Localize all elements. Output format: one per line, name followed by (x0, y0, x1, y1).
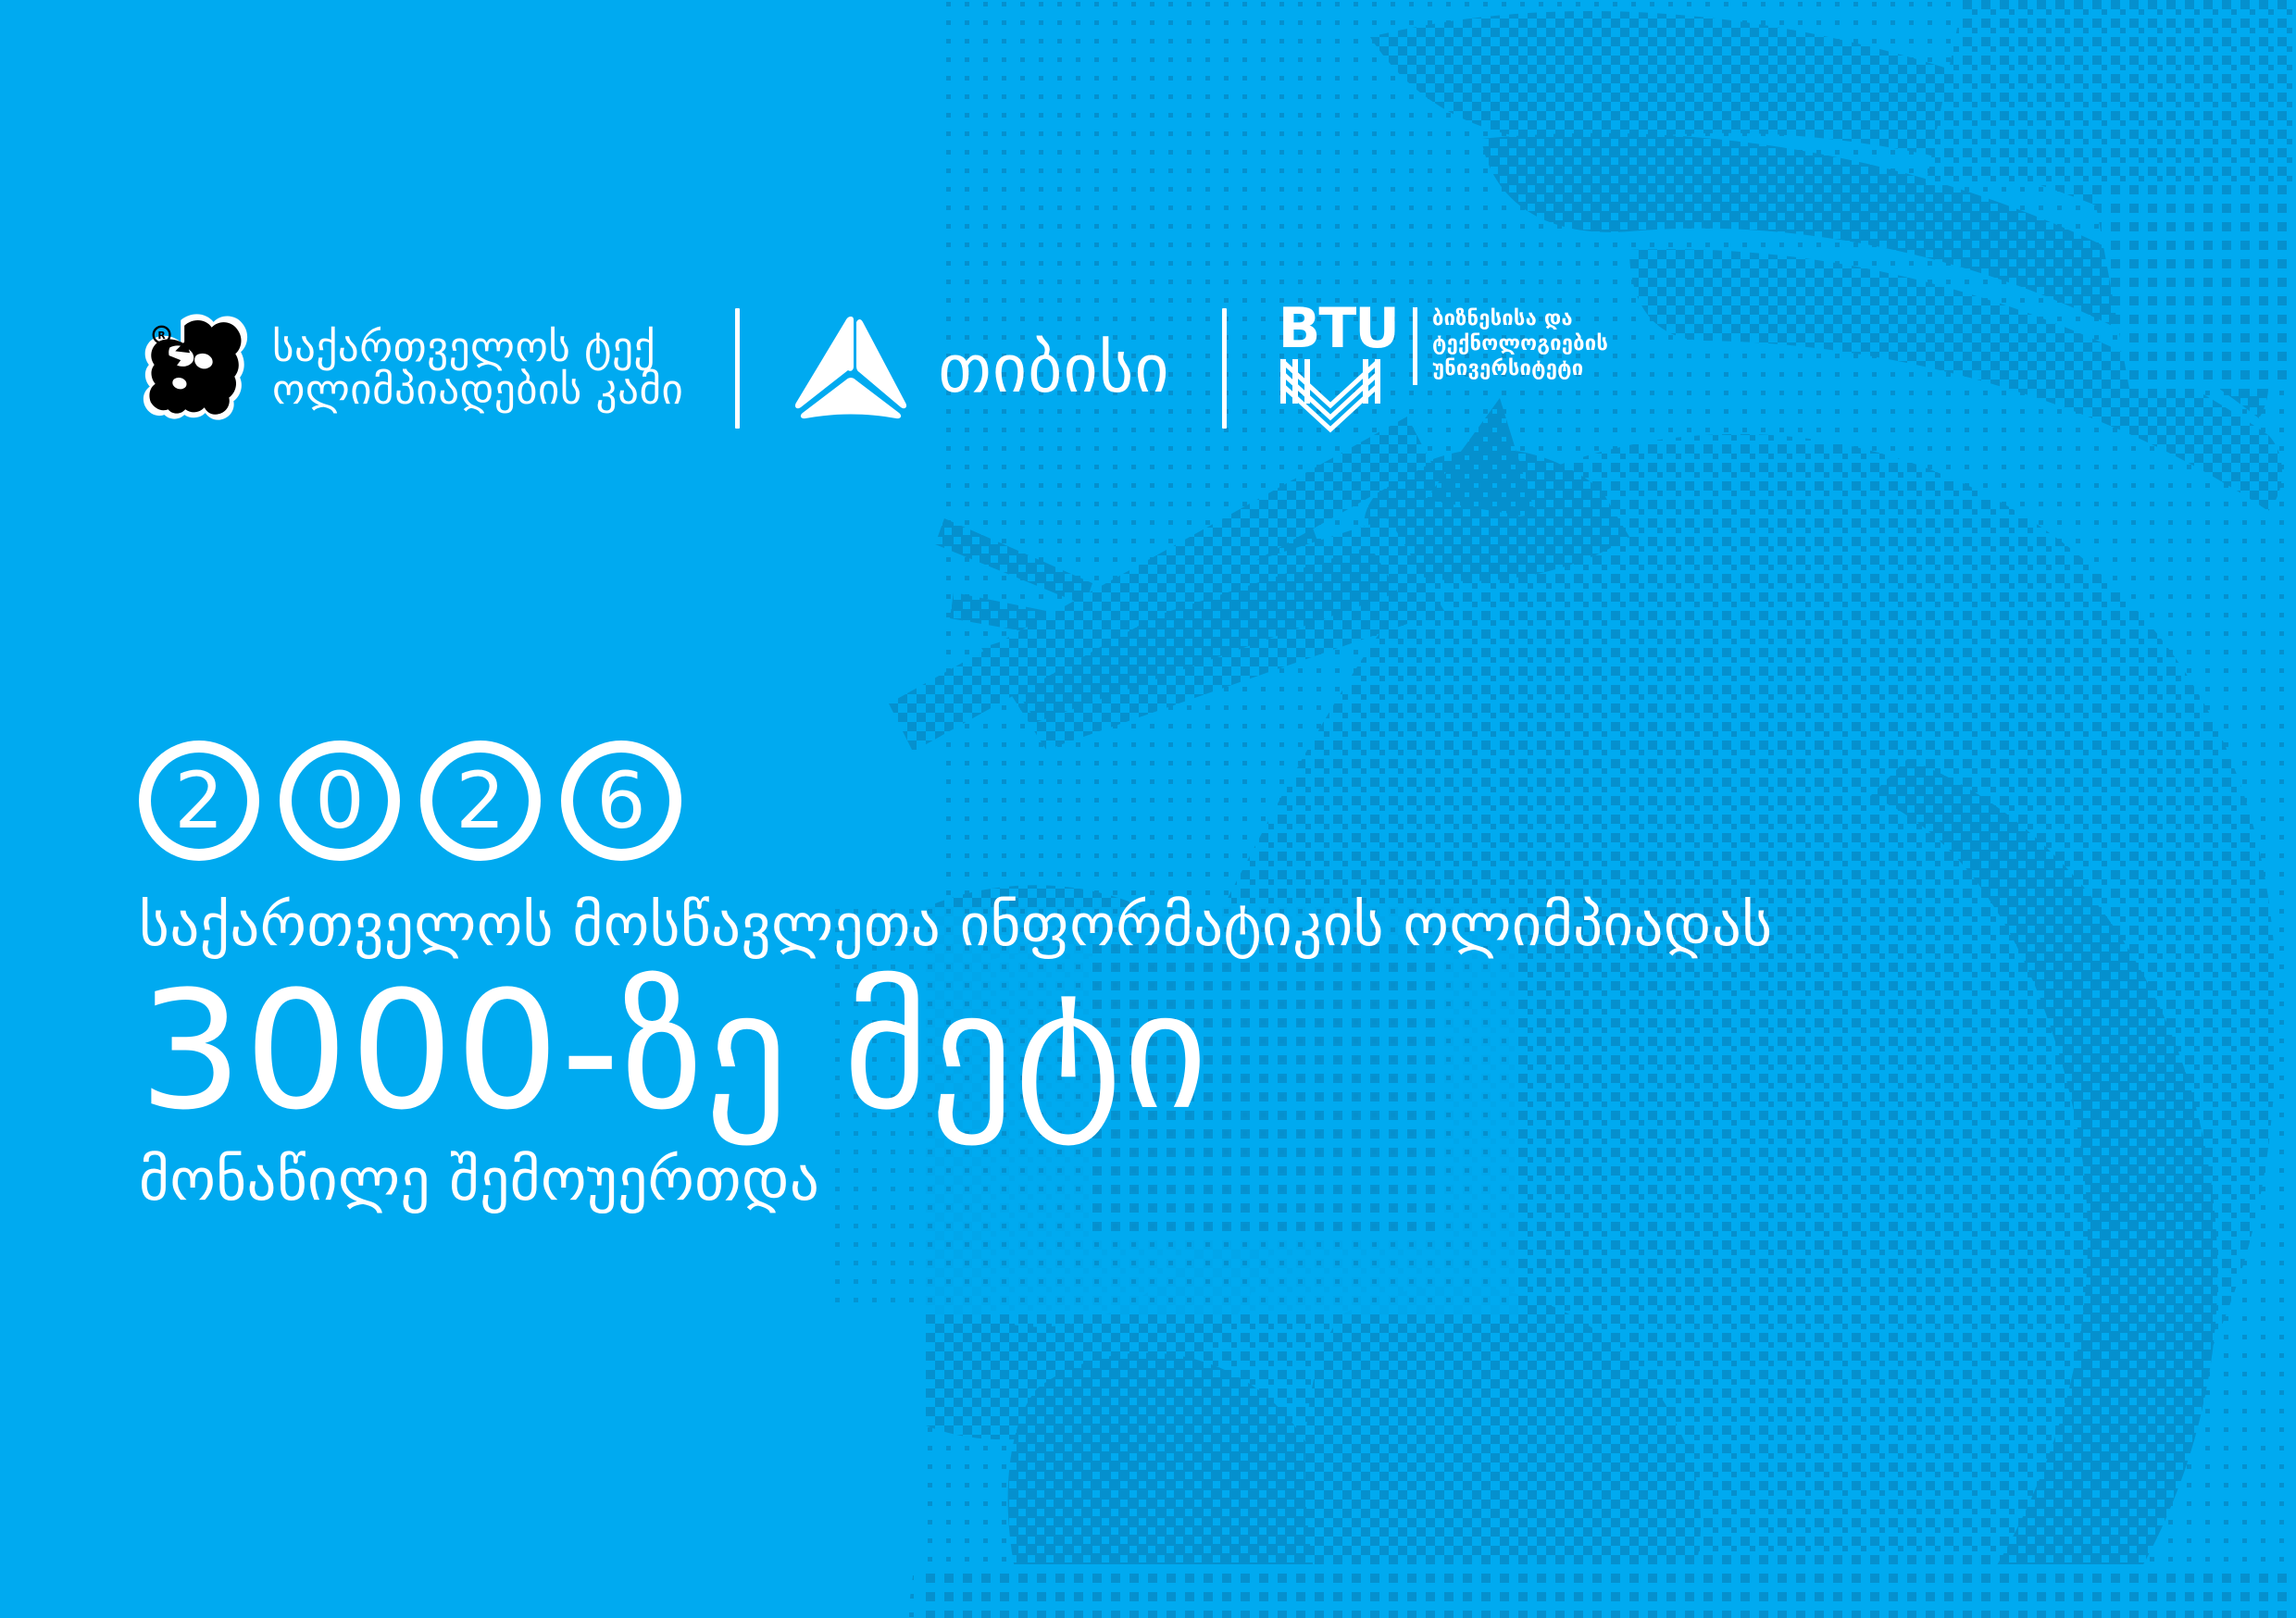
btu-subtitle-line2: ტექნოლოგიების (1432, 332, 1608, 357)
olympiad-logo[interactable]: R საქართველოს ტექ ოლიმპიადების კამი (139, 307, 683, 429)
year-badge-row: 2 0 2 6 (139, 741, 2157, 861)
fox-mascot-icon: R (139, 307, 248, 429)
btu-subtitle: ბიზნესისა და ტექნოლოგიების უნივერსიტეტი (1432, 304, 1608, 381)
year-digit-2: 0 (280, 741, 400, 861)
year-digit-4: 6 (561, 741, 681, 861)
olympiad-wordmark-line1: საქართველოს ტექ (272, 326, 683, 368)
tbc-wordmark: თიბისი (938, 335, 1169, 402)
headline: 3000-ზე მეტი (139, 968, 2157, 1135)
btu-chevron-icon (1279, 357, 1382, 433)
olympiad-wordmark: საქართველოს ტექ ოლიმპიადების კამი (272, 326, 683, 411)
logo-divider-2 (1222, 308, 1227, 429)
main-copy: 2 0 2 6 საქართველოს მოსწავლეთა ინფორმატი… (139, 741, 2157, 1213)
subtitle: საქართველოს მოსწავლეთა ინფორმატიკის ოლიმ… (139, 892, 2157, 959)
year-digit-1: 2 (139, 741, 259, 861)
year-digit-3: 2 (420, 741, 541, 861)
btu-subtitle-line3: უნივერსიტეტი (1432, 357, 1608, 382)
btu-inner-divider (1413, 307, 1417, 385)
promo-banner: R საქართველოს ტექ ოლიმპიადების კამი (0, 0, 2296, 1618)
logo-strip: R საქართველოს ტექ ოლიმპიადების კამი (139, 294, 1608, 442)
btu-wordmark: BTU (1279, 304, 1398, 354)
btu-logo[interactable]: BTU (1279, 304, 1608, 433)
svg-text:R: R (157, 330, 166, 342)
tbc-logo[interactable]: თიბისი (792, 315, 1169, 422)
logo-divider-1 (735, 308, 740, 429)
tbc-triangle-icon (792, 315, 910, 422)
tagline: მონაწილე შემოუერთდა (139, 1147, 2157, 1213)
btu-subtitle-line1: ბიზნესისა და (1432, 307, 1608, 332)
olympiad-wordmark-line2: ოლიმპიადების კამი (272, 368, 683, 411)
